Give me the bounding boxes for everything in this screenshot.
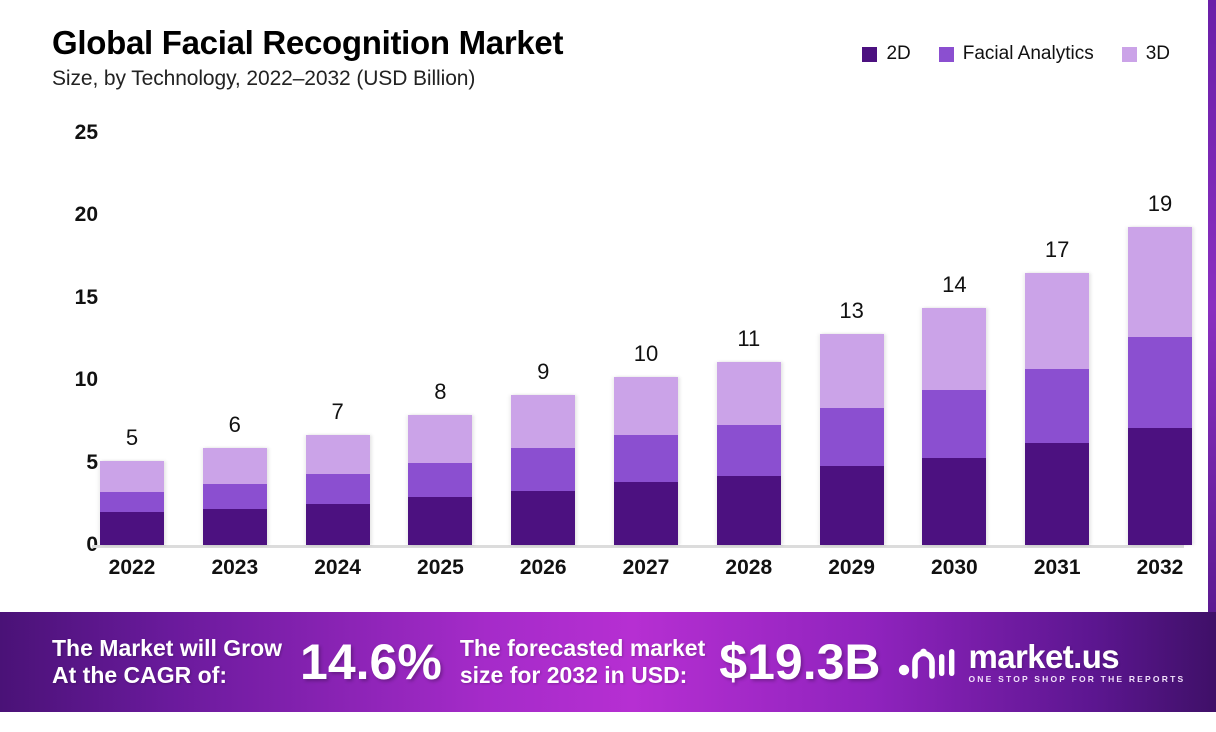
bar-total-label: 7 (331, 399, 343, 425)
x-axis-tick: 2025 (408, 556, 472, 580)
bar-segment[interactable] (203, 484, 267, 509)
bar-segment[interactable] (922, 458, 986, 545)
bar-segment[interactable] (1128, 428, 1192, 545)
bar-segment[interactable] (717, 476, 781, 545)
bar-column[interactable]: 10 (614, 377, 678, 545)
bar-column[interactable]: 7 (306, 435, 370, 545)
bar-stack[interactable] (203, 448, 267, 545)
bar-stack[interactable] (1025, 273, 1089, 545)
bar-column[interactable]: 9 (511, 395, 575, 545)
bar-column[interactable]: 14 (922, 308, 986, 545)
y-axis: 0510152025 (52, 0, 98, 612)
forecast-value: $19.3B (719, 637, 880, 687)
bar-segment[interactable] (820, 334, 884, 408)
bar-stack[interactable] (820, 334, 884, 545)
y-axis-tick: 15 (75, 286, 98, 310)
bar-segment[interactable] (717, 362, 781, 425)
bar-stack[interactable] (100, 461, 164, 545)
bar-segment[interactable] (1025, 369, 1089, 443)
bar-segment[interactable] (614, 377, 678, 435)
bar-segment[interactable] (922, 308, 986, 390)
cagr-caption-line2: At the CAGR of: (52, 662, 282, 689)
bar-segment[interactable] (100, 512, 164, 545)
market-us-logo-text: market.us ONE STOP SHOP FOR THE REPORTS (969, 640, 1186, 684)
bar-segment[interactable] (100, 461, 164, 492)
bar-segment[interactable] (511, 448, 575, 491)
x-axis-tick: 2023 (203, 556, 267, 580)
bar-total-label: 6 (229, 412, 241, 438)
bar-total-label: 5 (126, 425, 138, 451)
bar-segment[interactable] (717, 425, 781, 476)
bar-segment[interactable] (408, 463, 472, 498)
x-axis-tick: 2022 (100, 556, 164, 580)
bar-segment[interactable] (408, 415, 472, 463)
bar-column[interactable]: 5 (100, 461, 164, 545)
x-axis-tick: 2026 (511, 556, 575, 580)
bar-segment[interactable] (1128, 227, 1192, 337)
bar-total-label: 17 (1045, 237, 1069, 263)
forecast-caption: The forecasted market size for 2032 in U… (460, 635, 705, 688)
chart-infographic: Global Facial Recognition Market Size, b… (0, 0, 1216, 732)
bar-column[interactable]: 11 (717, 362, 781, 545)
bar-total-label: 9 (537, 359, 549, 385)
y-axis-tick: 5 (86, 451, 98, 475)
x-axis-tick: 2030 (922, 556, 986, 580)
forecast-caption-line1: The forecasted market (460, 635, 705, 662)
x-axis-tick: 2032 (1128, 556, 1192, 580)
bar-column[interactable]: 19 (1128, 227, 1192, 545)
x-axis: 2022202320242025202620272028202920302031… (100, 556, 1192, 580)
bar-segment[interactable] (614, 435, 678, 483)
y-axis-tick: 25 (75, 121, 98, 145)
bar-stack[interactable] (717, 362, 781, 545)
y-axis-tick: 20 (75, 203, 98, 227)
bar-series-container: 56789101113141719 (100, 0, 1192, 545)
bar-segment[interactable] (306, 474, 370, 504)
x-axis-tick: 2031 (1025, 556, 1089, 580)
bar-total-label: 10 (634, 341, 658, 367)
bar-column[interactable]: 8 (408, 415, 472, 545)
bar-total-label: 11 (737, 326, 760, 352)
forecast-caption-line2: size for 2032 in USD: (460, 662, 705, 689)
bar-segment[interactable] (511, 395, 575, 448)
logo-wordmark: market.us (969, 640, 1186, 673)
bar-segment[interactable] (511, 491, 575, 545)
bar-stack[interactable] (408, 415, 472, 545)
bar-stack[interactable] (306, 435, 370, 545)
bar-segment[interactable] (306, 504, 370, 545)
bar-total-label: 19 (1148, 191, 1172, 217)
cagr-caption: The Market will Grow At the CAGR of: (52, 635, 282, 688)
bar-segment[interactable] (820, 408, 884, 466)
bar-stack[interactable] (511, 395, 575, 545)
market-us-logo-mark-icon (897, 642, 959, 682)
x-axis-baseline (92, 545, 1184, 548)
bar-segment[interactable] (100, 492, 164, 512)
bar-column[interactable]: 13 (820, 334, 884, 545)
y-axis-tick: 10 (75, 368, 98, 392)
logo-tagline: ONE STOP SHOP FOR THE REPORTS (969, 675, 1186, 684)
bar-segment[interactable] (203, 509, 267, 545)
bar-column[interactable]: 17 (1025, 273, 1089, 545)
x-axis-tick: 2028 (717, 556, 781, 580)
bar-total-label: 8 (434, 379, 446, 405)
plot-area: 0510152025 56789101113141719 20222023202… (0, 0, 1216, 612)
x-axis-tick: 2029 (820, 556, 884, 580)
bar-stack[interactable] (614, 377, 678, 545)
cagr-caption-line1: The Market will Grow (52, 635, 282, 662)
x-axis-tick: 2024 (306, 556, 370, 580)
bar-total-label: 13 (839, 298, 863, 324)
bar-total-label: 14 (942, 272, 966, 298)
bar-segment[interactable] (614, 482, 678, 545)
x-axis-tick: 2027 (614, 556, 678, 580)
bar-segment[interactable] (203, 448, 267, 484)
market-us-logo[interactable]: market.us ONE STOP SHOP FOR THE REPORTS (897, 640, 1186, 684)
bar-segment[interactable] (1025, 443, 1089, 545)
bar-segment[interactable] (306, 435, 370, 475)
bar-column[interactable]: 6 (203, 448, 267, 545)
bar-stack[interactable] (1128, 227, 1192, 545)
summary-banner: The Market will Grow At the CAGR of: 14.… (0, 612, 1216, 712)
bar-segment[interactable] (408, 497, 472, 545)
bar-stack[interactable] (922, 308, 986, 545)
bar-segment[interactable] (820, 466, 884, 545)
bar-segment[interactable] (922, 390, 986, 458)
bar-segment[interactable] (1025, 273, 1089, 369)
cagr-value: 14.6% (300, 637, 442, 687)
bar-segment[interactable] (1128, 337, 1192, 428)
